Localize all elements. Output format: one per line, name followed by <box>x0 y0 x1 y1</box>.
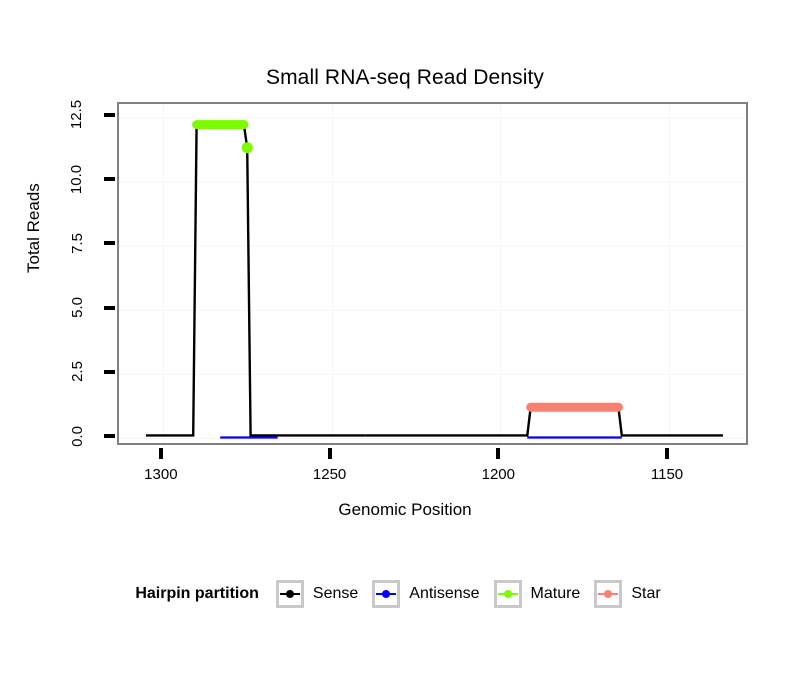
x-tick-label: 1300 <box>144 466 177 483</box>
data-layer <box>119 104 746 443</box>
legend-key-antisense <box>372 580 400 608</box>
legend-label: Sense <box>313 585 358 603</box>
x-tick-mark <box>328 448 332 459</box>
series-point-mature <box>242 142 253 153</box>
y-tick-mark <box>104 177 115 181</box>
legend-label: Antisense <box>409 585 479 603</box>
plot-panel <box>117 102 748 445</box>
y-tick-mark <box>104 434 115 438</box>
legend: Hairpin partition SenseAntisenseMatureSt… <box>0 580 810 608</box>
chart-figure: Small RNA-seq Read Density Total Reads 0… <box>0 0 810 690</box>
legend-dot-icon <box>382 590 390 598</box>
legend-key-star <box>594 580 622 608</box>
series-line-sense <box>146 125 365 436</box>
legend-dot-icon <box>504 590 512 598</box>
x-axis-title: Genomic Position <box>0 500 810 520</box>
x-tick-label: 1250 <box>313 466 346 483</box>
legend-dot-icon <box>286 590 294 598</box>
x-tick-mark <box>665 448 669 459</box>
legend-dot-icon <box>604 590 612 598</box>
legend-item-sense[interactable]: Sense <box>276 580 358 608</box>
legend-key-mature <box>494 580 522 608</box>
y-tick-mark <box>104 306 115 310</box>
x-tick-label: 1200 <box>482 466 515 483</box>
legend-items: SenseAntisenseMatureStar <box>276 580 675 608</box>
y-tick-mark <box>104 113 115 117</box>
legend-item-star[interactable]: Star <box>594 580 660 608</box>
x-tick-label: 1150 <box>651 466 683 483</box>
legend-item-antisense[interactable]: Antisense <box>372 580 479 608</box>
legend-title: Hairpin partition <box>135 585 259 603</box>
legend-label: Star <box>631 585 660 603</box>
x-tick-mark <box>496 448 500 459</box>
legend-item-mature[interactable]: Mature <box>494 580 581 608</box>
legend-label: Mature <box>531 585 581 603</box>
chart-title: Small RNA-seq Read Density <box>0 66 810 90</box>
y-tick-mark <box>104 241 115 245</box>
x-axis: 1300125012001150 <box>0 445 810 505</box>
series-svg <box>119 104 748 445</box>
y-tick-mark <box>104 370 115 374</box>
legend-key-sense <box>276 580 304 608</box>
x-tick-mark <box>159 448 163 459</box>
